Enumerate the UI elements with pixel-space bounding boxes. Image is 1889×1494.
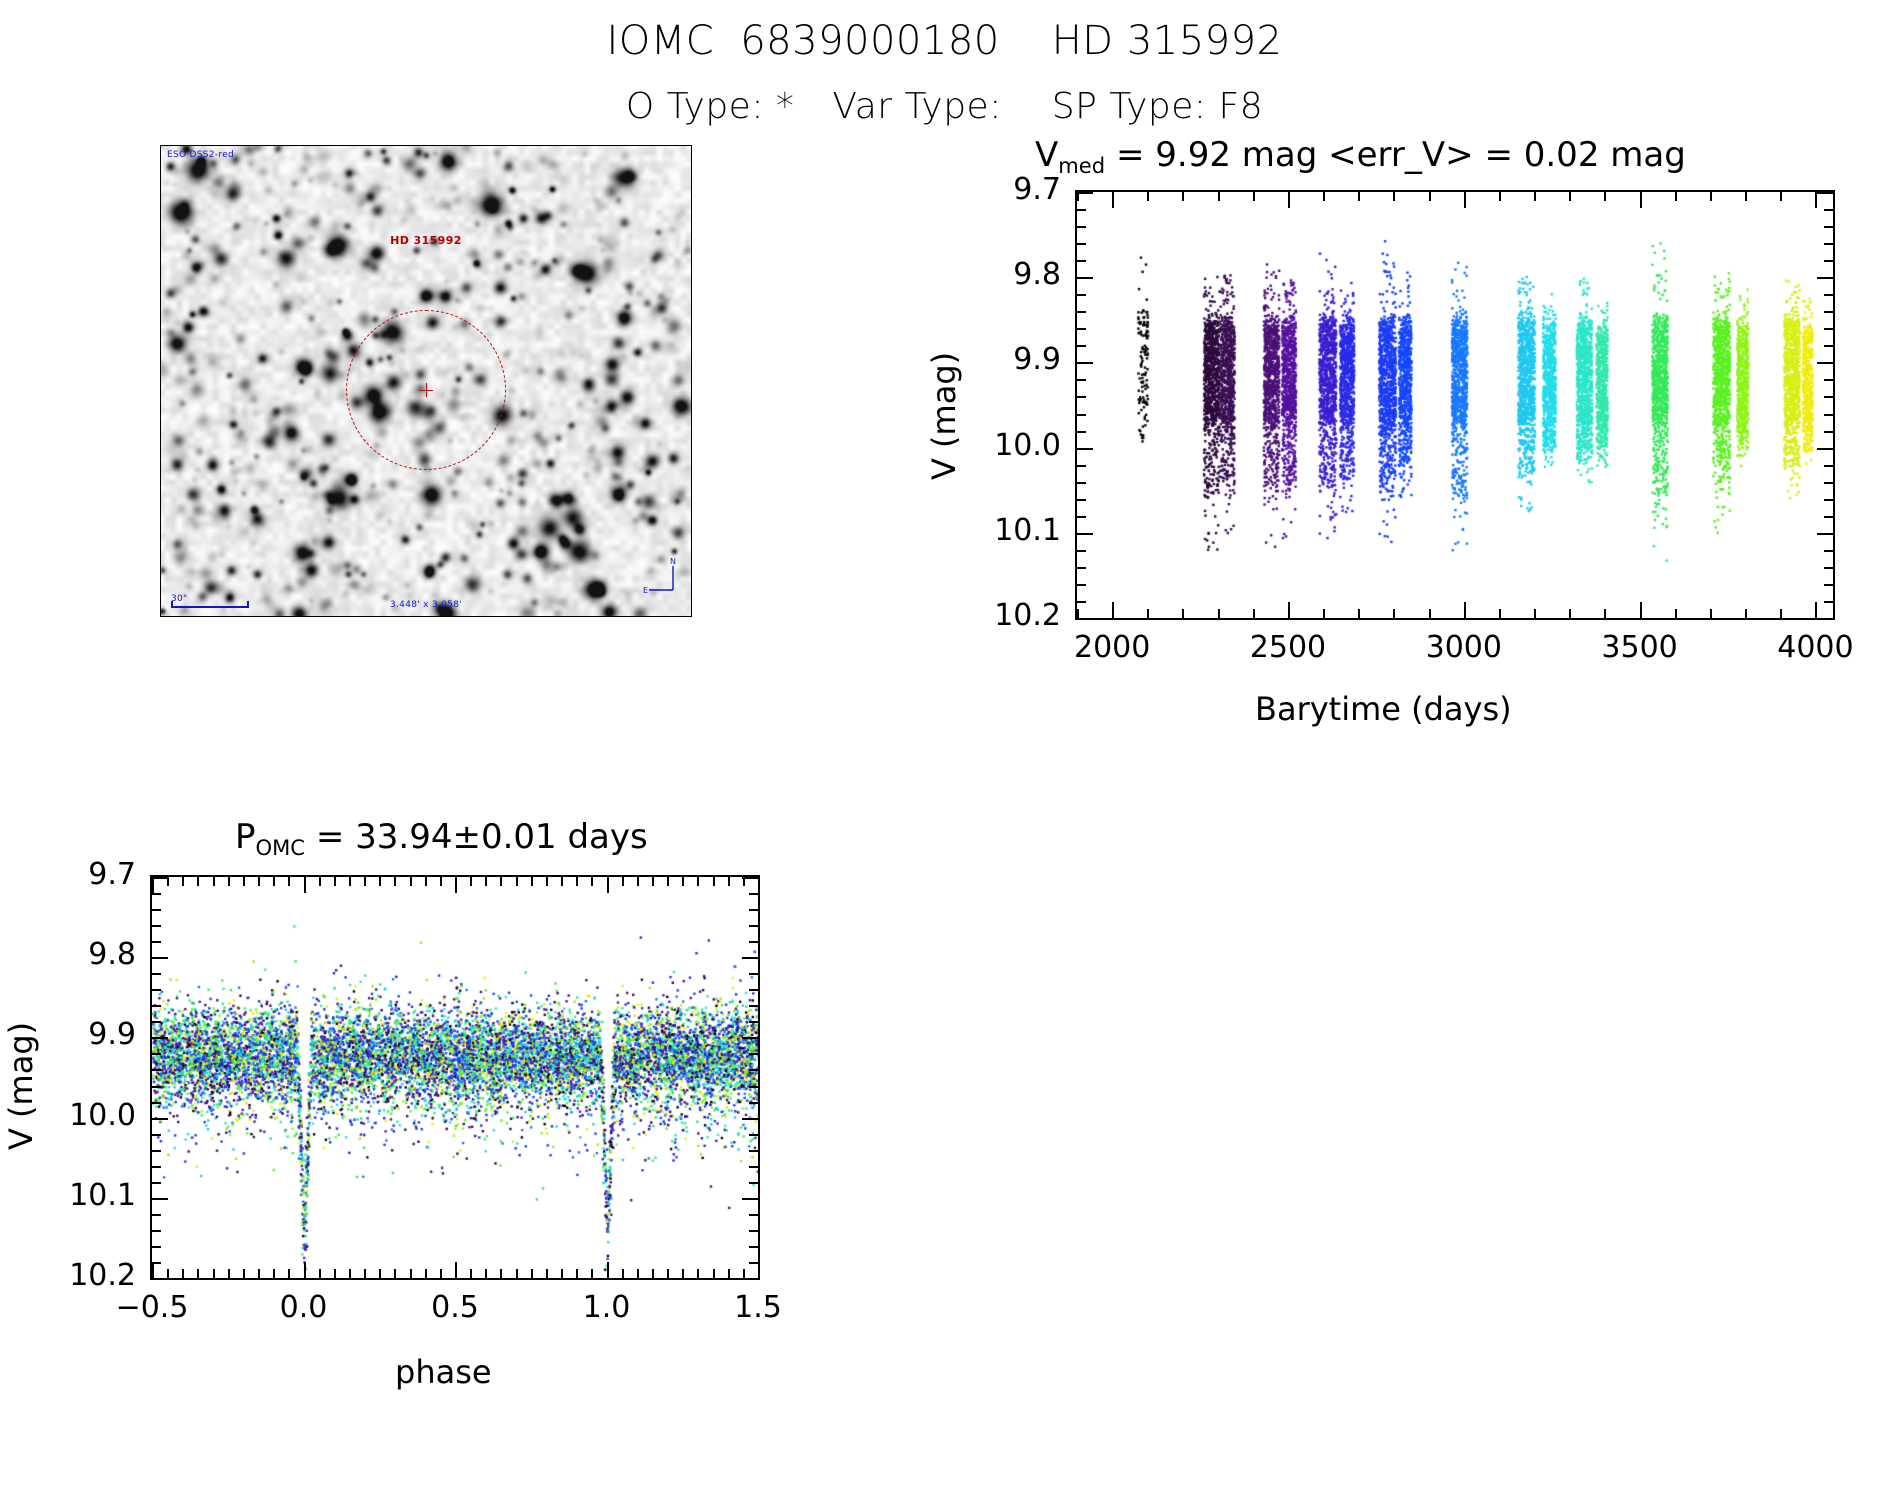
axis-tick bbox=[667, 877, 669, 886]
axis-tick bbox=[1077, 311, 1086, 313]
axis-tick-label: 10.0 bbox=[994, 428, 1061, 463]
axis-tick bbox=[152, 1021, 161, 1023]
axis-tick bbox=[152, 925, 161, 927]
axis-tick bbox=[273, 1269, 275, 1278]
axis-tick bbox=[152, 1086, 161, 1088]
axis-tick-label: 2500 bbox=[1250, 630, 1326, 665]
axis-tick bbox=[591, 1269, 593, 1278]
axis-tick bbox=[1824, 260, 1833, 262]
err-v-value: <err_V> = 0.02 mag bbox=[1328, 135, 1686, 175]
axis-tick bbox=[379, 1269, 381, 1278]
axis-tick bbox=[713, 877, 715, 886]
axis-tick bbox=[516, 1269, 518, 1278]
axis-tick bbox=[1817, 533, 1833, 535]
axis-tick bbox=[728, 1269, 730, 1278]
axis-tick bbox=[394, 877, 396, 886]
axis-tick bbox=[1824, 294, 1833, 296]
axis-tick bbox=[152, 973, 161, 975]
axis-tick bbox=[1323, 192, 1325, 201]
axis-tick bbox=[749, 1053, 758, 1055]
axis-tick bbox=[742, 1278, 758, 1280]
axis-tick bbox=[1640, 192, 1642, 208]
axis-tick bbox=[1817, 277, 1833, 279]
axis-tick bbox=[1077, 379, 1086, 381]
axis-tick bbox=[470, 877, 472, 886]
axis-tick bbox=[1077, 465, 1086, 467]
axis-tick bbox=[749, 1150, 758, 1152]
axis-tick bbox=[1077, 277, 1093, 279]
axis-tick bbox=[152, 877, 154, 893]
axis-tick bbox=[1077, 362, 1093, 364]
axis-tick bbox=[152, 1005, 161, 1007]
axis-tick bbox=[243, 1269, 245, 1278]
axis-tick bbox=[743, 1269, 745, 1278]
axis-tick-label: 9.9 bbox=[1013, 342, 1061, 377]
axis-tick-label: 10.1 bbox=[994, 513, 1061, 548]
axis-tick bbox=[742, 1037, 758, 1039]
axis-tick bbox=[1675, 192, 1677, 201]
period-subscript: OMC bbox=[256, 835, 306, 860]
axis-tick bbox=[576, 1269, 578, 1278]
axis-tick bbox=[749, 941, 758, 943]
axis-tick bbox=[749, 989, 758, 991]
axis-tick bbox=[1824, 584, 1833, 586]
axis-tick-label: 2000 bbox=[1074, 630, 1150, 665]
axis-tick bbox=[1817, 448, 1833, 450]
axis-tick bbox=[197, 877, 199, 886]
sp-type-label: SP Type: bbox=[1052, 86, 1207, 127]
axis-tick bbox=[152, 909, 161, 911]
axis-tick bbox=[288, 877, 290, 886]
axis-tick bbox=[749, 1246, 758, 1248]
axis-tick bbox=[531, 877, 533, 886]
axis-tick bbox=[1147, 192, 1149, 201]
axis-tick bbox=[1288, 602, 1290, 618]
axis-tick bbox=[742, 1198, 758, 1200]
axis-tick bbox=[1077, 328, 1086, 330]
axis-tick bbox=[749, 893, 758, 895]
axis-tick bbox=[410, 877, 412, 886]
axis-tick bbox=[1358, 609, 1360, 618]
axis-tick bbox=[682, 1269, 684, 1278]
axis-tick bbox=[1077, 226, 1086, 228]
axis-tick bbox=[1824, 328, 1833, 330]
axis-tick bbox=[319, 877, 321, 886]
axis-tick bbox=[1824, 396, 1833, 398]
catalog-prefix: IOMC bbox=[606, 18, 714, 64]
axis-tick bbox=[1077, 550, 1086, 552]
axis-tick bbox=[1077, 209, 1086, 211]
axis-tick bbox=[152, 1262, 154, 1278]
axis-tick bbox=[258, 1269, 260, 1278]
axis-tick bbox=[1675, 609, 1677, 618]
axis-tick bbox=[742, 957, 758, 959]
axis-tick bbox=[1817, 618, 1833, 620]
axis-tick bbox=[334, 1269, 336, 1278]
axis-tick bbox=[1182, 609, 1184, 618]
axis-tick bbox=[152, 1214, 161, 1216]
axis-tick-label: 1.0 bbox=[583, 1290, 631, 1325]
axis-tick bbox=[1824, 345, 1833, 347]
axis-tick bbox=[485, 877, 487, 886]
axis-tick bbox=[1429, 192, 1431, 201]
axis-tick bbox=[749, 1102, 758, 1104]
axis-tick bbox=[622, 1269, 624, 1278]
axis-tick bbox=[1745, 192, 1747, 201]
axis-tick bbox=[1817, 192, 1833, 194]
axis-tick bbox=[742, 1118, 758, 1120]
axis-tick-label: 10.0 bbox=[69, 1098, 136, 1133]
axis-tick bbox=[152, 1166, 161, 1168]
axis-tick bbox=[546, 877, 548, 886]
axis-tick bbox=[1604, 609, 1606, 618]
axis-tick bbox=[576, 877, 578, 886]
axis-tick bbox=[440, 877, 442, 886]
finding-chart: ESO DSS2-red HD 315992 30" 3.448' x 3.05… bbox=[160, 145, 692, 617]
axis-tick bbox=[197, 1269, 199, 1278]
axis-tick-label: 9.8 bbox=[88, 937, 136, 972]
svg-text:E: E bbox=[643, 586, 648, 595]
axis-tick bbox=[152, 957, 168, 959]
axis-tick bbox=[1077, 499, 1086, 501]
axis-tick bbox=[1824, 516, 1833, 518]
axis-tick bbox=[455, 1262, 457, 1278]
axis-tick-label: 10.2 bbox=[69, 1258, 136, 1293]
period-value: = 33.94±0.01 days bbox=[305, 817, 648, 857]
axis-tick bbox=[1077, 192, 1093, 194]
axis-tick bbox=[213, 1269, 215, 1278]
axis-tick bbox=[622, 877, 624, 886]
axis-tick bbox=[152, 877, 168, 879]
axis-tick bbox=[1499, 609, 1501, 618]
field-of-view-label: 3.448' x 3.058' bbox=[390, 600, 462, 610]
axis-tick bbox=[1253, 609, 1255, 618]
axis-tick bbox=[182, 1269, 184, 1278]
axis-tick-label: 0.0 bbox=[280, 1290, 328, 1325]
sp-type-value: F8 bbox=[1219, 86, 1264, 127]
axis-tick bbox=[152, 1134, 161, 1136]
o-type-value: * bbox=[776, 86, 795, 127]
axis-tick bbox=[1358, 192, 1360, 201]
axis-tick bbox=[1077, 584, 1086, 586]
axis-tick bbox=[1817, 362, 1833, 364]
axis-tick-label: 10.1 bbox=[69, 1178, 136, 1213]
axis-tick bbox=[1824, 601, 1833, 603]
axis-tick bbox=[749, 1134, 758, 1136]
axis-tick bbox=[749, 909, 758, 911]
axis-tick bbox=[1780, 609, 1782, 618]
axis-tick bbox=[1710, 609, 1712, 618]
axis-tick bbox=[1824, 311, 1833, 313]
axis-tick bbox=[1824, 243, 1833, 245]
period-symbol: P bbox=[235, 817, 256, 857]
axis-tick bbox=[349, 1269, 351, 1278]
axis-tick bbox=[1824, 226, 1833, 228]
vmed-subscript: med bbox=[1058, 153, 1105, 178]
axis-tick bbox=[1640, 602, 1642, 618]
axis-tick bbox=[500, 877, 502, 886]
axis-tick bbox=[1534, 609, 1536, 618]
axis-tick bbox=[1824, 465, 1833, 467]
axis-tick bbox=[1569, 192, 1571, 201]
axis-tick bbox=[152, 1037, 168, 1039]
axis-tick bbox=[561, 1269, 563, 1278]
axis-tick bbox=[1824, 482, 1833, 484]
axis-tick bbox=[749, 925, 758, 927]
axis-tick bbox=[637, 877, 639, 886]
o-type-label: O Type: bbox=[626, 86, 764, 127]
axis-tick bbox=[1077, 609, 1079, 618]
axis-tick bbox=[1077, 533, 1093, 535]
axis-tick bbox=[425, 877, 427, 886]
axis-tick bbox=[713, 1269, 715, 1278]
axis-tick bbox=[637, 1269, 639, 1278]
axis-tick bbox=[425, 1269, 427, 1278]
axis-tick bbox=[1815, 192, 1817, 208]
axis-tick bbox=[1077, 294, 1086, 296]
axis-tick-label: −0.5 bbox=[116, 1290, 189, 1325]
axis-tick bbox=[1464, 602, 1466, 618]
light-curve-x-axis-title: Barytime (days) bbox=[1255, 690, 1512, 728]
axis-tick bbox=[1077, 567, 1086, 569]
scale-bar-icon bbox=[171, 606, 249, 608]
axis-tick bbox=[1077, 396, 1086, 398]
object-type-line: O Type: * Var Type: SP Type: F8 bbox=[0, 86, 1889, 127]
axis-tick bbox=[152, 1118, 168, 1120]
axis-tick bbox=[152, 1053, 161, 1055]
axis-tick bbox=[1824, 414, 1833, 416]
axis-tick bbox=[561, 877, 563, 886]
axis-tick bbox=[749, 1069, 758, 1071]
axis-tick bbox=[152, 1150, 161, 1152]
axis-tick bbox=[728, 877, 730, 886]
target-center-cross bbox=[419, 383, 433, 397]
axis-tick bbox=[1393, 609, 1395, 618]
axis-tick bbox=[749, 1182, 758, 1184]
axis-tick bbox=[749, 973, 758, 975]
axis-tick bbox=[516, 877, 518, 886]
axis-tick-label: 0.5 bbox=[431, 1290, 479, 1325]
axis-tick bbox=[652, 877, 654, 886]
axis-tick bbox=[1824, 431, 1833, 433]
axis-tick bbox=[1815, 602, 1817, 618]
axis-tick bbox=[228, 877, 230, 886]
axis-tick-label: 9.9 bbox=[88, 1017, 136, 1052]
axis-tick bbox=[304, 1262, 306, 1278]
axis-tick bbox=[379, 877, 381, 886]
axis-tick bbox=[742, 877, 758, 879]
axis-tick-label: 9.7 bbox=[88, 857, 136, 892]
axis-tick bbox=[1112, 192, 1114, 208]
axis-tick bbox=[652, 1269, 654, 1278]
axis-tick bbox=[591, 877, 593, 886]
axis-tick bbox=[1499, 192, 1501, 201]
axis-tick bbox=[455, 877, 457, 893]
axis-tick-label: 3500 bbox=[1601, 630, 1677, 665]
axis-tick bbox=[749, 1262, 758, 1264]
axis-tick bbox=[749, 1086, 758, 1088]
axis-tick-label: 4000 bbox=[1777, 630, 1853, 665]
axis-tick bbox=[1077, 345, 1086, 347]
axis-tick bbox=[364, 877, 366, 886]
axis-tick bbox=[1323, 609, 1325, 618]
axis-tick bbox=[1393, 192, 1395, 201]
phase-plot-y-axis-title: V (mag) bbox=[2, 1022, 40, 1150]
axis-tick bbox=[1569, 609, 1571, 618]
phase-plot-x-axis-title: phase bbox=[395, 1353, 492, 1391]
phase-plot-data-points bbox=[152, 877, 758, 1278]
axis-tick bbox=[1077, 414, 1086, 416]
axis-tick bbox=[1077, 243, 1086, 245]
vmed-symbol: V bbox=[1035, 135, 1058, 175]
axis-tick bbox=[1288, 192, 1290, 208]
light-curve-title: Vmed = 9.92 mag <err_V> = 0.02 mag bbox=[1035, 135, 1686, 175]
axis-tick bbox=[213, 877, 215, 886]
object-name: HD 315992 bbox=[1052, 18, 1283, 64]
axis-tick bbox=[1077, 601, 1086, 603]
target-name-annotation: HD 315992 bbox=[390, 234, 462, 247]
axis-tick bbox=[1604, 192, 1606, 201]
axis-tick bbox=[1824, 499, 1833, 501]
axis-tick bbox=[682, 877, 684, 886]
axis-tick bbox=[749, 1021, 758, 1023]
axis-tick bbox=[152, 1198, 168, 1200]
axis-tick bbox=[500, 1269, 502, 1278]
axis-tick bbox=[394, 1269, 396, 1278]
axis-tick bbox=[546, 1269, 548, 1278]
axis-tick bbox=[152, 1262, 161, 1264]
axis-tick bbox=[1780, 192, 1782, 201]
axis-tick bbox=[749, 1230, 758, 1232]
axis-tick bbox=[304, 877, 306, 893]
phase-plot-title: POMC = 33.94±0.01 days bbox=[235, 817, 648, 857]
axis-tick bbox=[697, 877, 699, 886]
axis-tick-label: 3000 bbox=[1426, 630, 1502, 665]
axis-tick bbox=[1534, 192, 1536, 201]
axis-tick bbox=[1077, 482, 1086, 484]
light-curve-y-axis-title: V (mag) bbox=[925, 352, 963, 480]
axis-tick bbox=[273, 877, 275, 886]
page-title: IOMC6839000180HD 315992 bbox=[0, 18, 1889, 64]
axis-tick bbox=[485, 1269, 487, 1278]
axis-tick-label: 9.8 bbox=[1013, 257, 1061, 292]
axis-tick bbox=[1745, 609, 1747, 618]
vmed-value: = 9.92 mag bbox=[1105, 135, 1328, 175]
axis-tick bbox=[1710, 192, 1712, 201]
axis-tick bbox=[1824, 567, 1833, 569]
axis-tick bbox=[1182, 192, 1184, 201]
axis-tick bbox=[1253, 192, 1255, 201]
axis-tick bbox=[410, 1269, 412, 1278]
survey-label: ESO DSS2-red bbox=[167, 150, 234, 160]
axis-tick bbox=[1077, 448, 1093, 450]
var-type-label: Var Type: bbox=[832, 86, 1001, 127]
axis-tick bbox=[228, 1269, 230, 1278]
svg-text:N: N bbox=[670, 558, 676, 566]
axis-tick bbox=[1218, 609, 1220, 618]
axis-tick bbox=[152, 1182, 161, 1184]
axis-tick bbox=[364, 1269, 366, 1278]
axis-tick bbox=[607, 1262, 609, 1278]
axis-tick bbox=[243, 877, 245, 886]
axis-tick bbox=[1824, 379, 1833, 381]
axis-tick bbox=[152, 1278, 168, 1280]
axis-tick bbox=[182, 877, 184, 886]
axis-tick bbox=[152, 941, 161, 943]
axis-tick bbox=[152, 989, 161, 991]
scale-bar-label: 30" bbox=[171, 594, 188, 604]
axis-tick bbox=[758, 877, 760, 893]
axis-tick bbox=[1147, 609, 1149, 618]
axis-tick bbox=[152, 1069, 161, 1071]
axis-tick bbox=[288, 1269, 290, 1278]
axis-tick bbox=[440, 1269, 442, 1278]
axis-tick bbox=[152, 1246, 161, 1248]
axis-tick-label: 1.5 bbox=[734, 1290, 782, 1325]
axis-tick bbox=[470, 1269, 472, 1278]
axis-tick bbox=[1429, 609, 1431, 618]
axis-tick bbox=[319, 1269, 321, 1278]
axis-tick bbox=[749, 1005, 758, 1007]
axis-tick bbox=[1077, 516, 1086, 518]
axis-tick bbox=[152, 893, 161, 895]
axis-tick bbox=[258, 877, 260, 886]
axis-tick bbox=[152, 1102, 161, 1104]
axis-tick bbox=[749, 1214, 758, 1216]
iomc-id: 6839000180 bbox=[740, 18, 1000, 64]
axis-tick bbox=[152, 1230, 161, 1232]
axis-tick bbox=[1464, 192, 1466, 208]
light-curve-data-points bbox=[1077, 192, 1833, 618]
axis-tick bbox=[667, 1269, 669, 1278]
axis-tick bbox=[1077, 618, 1093, 620]
axis-tick bbox=[1112, 602, 1114, 618]
axis-tick bbox=[334, 877, 336, 886]
axis-tick bbox=[1218, 192, 1220, 201]
axis-tick bbox=[1077, 431, 1086, 433]
axis-tick bbox=[531, 1269, 533, 1278]
axis-tick bbox=[697, 1269, 699, 1278]
axis-tick bbox=[758, 1262, 760, 1278]
axis-tick bbox=[1824, 209, 1833, 211]
axis-tick bbox=[1077, 260, 1086, 262]
compass-rose-icon: N E bbox=[643, 558, 683, 598]
axis-tick bbox=[349, 877, 351, 886]
axis-tick bbox=[1824, 550, 1833, 552]
axis-tick-label: 9.7 bbox=[1013, 172, 1061, 207]
axis-tick bbox=[167, 1269, 169, 1278]
axis-tick-label: 10.2 bbox=[994, 598, 1061, 633]
axis-tick bbox=[749, 1166, 758, 1168]
axis-tick bbox=[607, 877, 609, 893]
